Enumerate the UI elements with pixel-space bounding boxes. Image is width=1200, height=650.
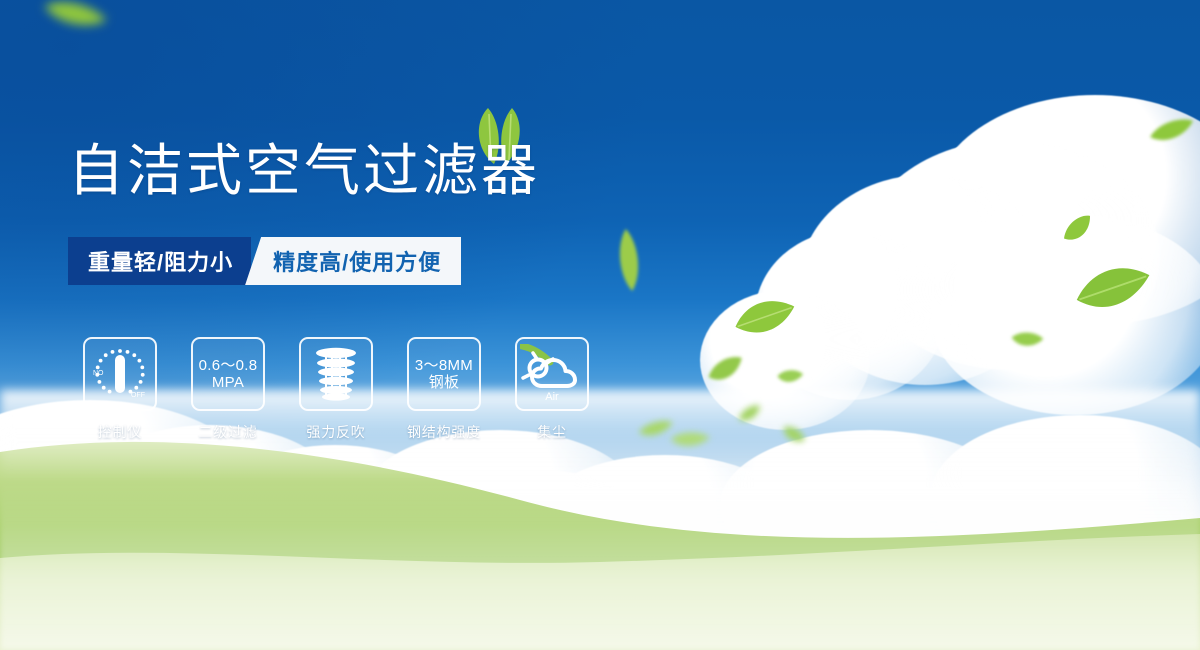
steel-material: 钢板 <box>415 374 473 391</box>
cloud-air-icon: Air <box>520 344 584 404</box>
feature-icon-box: 0.6～0.8 MPA <box>191 337 265 411</box>
pressure-value: 0.6～0.8 <box>199 357 258 374</box>
dial-on-label: NO <box>93 370 104 377</box>
page-title: 自洁式空气过滤器 <box>68 143 540 199</box>
pressure-text-icon: 0.6～0.8 MPA <box>199 357 258 392</box>
pressure-unit: MPA <box>199 374 258 391</box>
feature-label: 钢结构强度 <box>407 422 481 442</box>
feature-icon-box: 3～8MM 钢板 <box>407 337 481 411</box>
subtitle-left-text: 重量轻/阻力小 <box>88 245 233 277</box>
feature-item-control-dial[interactable]: NO OFF 控制仪 <box>68 337 172 442</box>
control-dial-icon: NO OFF <box>89 343 151 405</box>
feature-item-dust-collection[interactable]: Air 集尘 <box>500 337 604 442</box>
subtitle-right-pill: 精度高/使用方便 <box>245 237 461 285</box>
feature-icon-box <box>299 337 373 411</box>
air-filter-banner: 自洁式空气过滤器 重量轻/阻力小 精度高/使用方便 <box>0 0 1200 650</box>
feature-label: 强力反吹 <box>306 422 365 442</box>
cloud-air-label: Air <box>545 391 559 403</box>
feature-label: 控制仪 <box>98 422 142 442</box>
leaf-icon <box>775 366 805 388</box>
grass-light-sheen <box>0 480 1200 650</box>
steel-thickness: 3～8MM <box>415 357 473 374</box>
feature-label: 集尘 <box>537 422 567 442</box>
feature-icon-box: Air <box>515 337 589 411</box>
cloud-shape <box>930 215 1200 415</box>
feature-icon-box: NO OFF <box>83 337 157 411</box>
steel-plate-text-icon: 3～8MM 钢板 <box>415 357 473 392</box>
filter-cartridge-icon <box>308 345 364 403</box>
feature-list: NO OFF 控制仪 0.6～0.8 MPA 二级过滤 <box>68 337 604 442</box>
subtitle-bar: 重量轻/阻力小 精度高/使用方便 <box>68 237 461 285</box>
feature-item-steel-plate[interactable]: 3～8MM 钢板 钢结构强度 <box>392 337 496 442</box>
feature-item-pressure[interactable]: 0.6～0.8 MPA 二级过滤 <box>176 337 280 442</box>
feature-item-backflush[interactable]: 强力反吹 <box>284 337 388 442</box>
subtitle-right-text: 精度高/使用方便 <box>273 245 441 277</box>
feature-label: 二级过滤 <box>198 422 257 442</box>
dial-off-label: OFF <box>131 392 145 399</box>
subtitle-left-pill: 重量轻/阻力小 <box>68 237 251 285</box>
